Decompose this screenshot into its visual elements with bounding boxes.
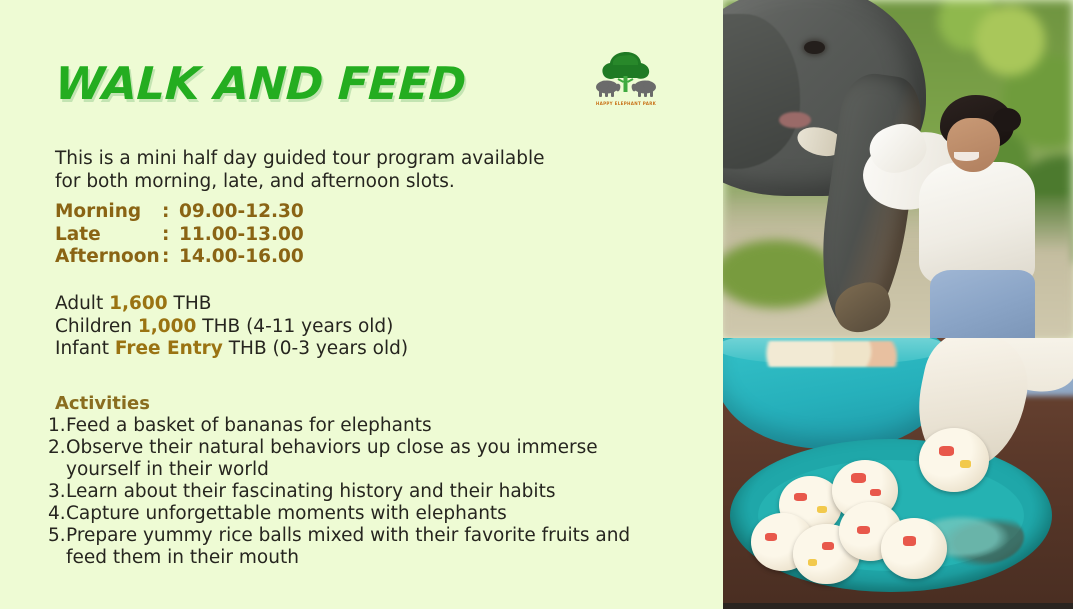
schedule-label-afternoon: Afternoon: [55, 246, 162, 269]
fruit-chunk: [939, 446, 954, 456]
schedule-colon-late: :: [162, 224, 179, 247]
schedule-time-late: 11.00-13.00: [179, 224, 304, 247]
list-item: 3. Learn about their fascinating history…: [48, 481, 668, 503]
fruit-chunk: [817, 506, 827, 513]
rice-ball-in-hand: [919, 428, 989, 492]
list-item-number: 2.: [48, 437, 66, 459]
schedule-label-morning: Morning: [55, 201, 162, 224]
logo-caption: HAPPY ELEPHANT PARK: [590, 101, 662, 106]
activities-heading: Activities: [55, 393, 150, 414]
price-note-children: (4-11 years old): [246, 316, 393, 337]
price-row-infant: Infant Free Entry THB (0-3 years old): [55, 338, 408, 361]
schedule-label-late: Late: [55, 224, 162, 247]
fruit-chunk: [822, 542, 834, 551]
schedule-time-morning: 09.00-12.30: [179, 201, 304, 224]
activities-list: 1. Feed a basket of bananas for elephant…: [48, 415, 668, 569]
photo-elephant-with-visitor: [723, 0, 1073, 338]
fruit-chunk: [794, 493, 807, 501]
schedule-row-morning: Morning : 09.00-12.30: [55, 201, 304, 224]
fruit-chunk: [765, 533, 778, 541]
list-item-number: 5.: [48, 525, 66, 547]
schedule-colon-morning: :: [162, 201, 179, 224]
list-item-number: 1.: [48, 415, 66, 437]
pricing-list: Adult 1,600 THB Children 1,000 THB (4-11…: [55, 293, 408, 361]
list-item: 4. Capture unforgettable moments with el…: [48, 503, 668, 525]
park-logo: HAPPY ELEPHANT PARK: [590, 48, 662, 110]
elephant-mouth: [779, 112, 811, 129]
price-value-children: 1,000: [138, 316, 197, 337]
list-item-text: Observe their natural behaviors up close…: [66, 437, 668, 481]
schedule-row-late: Late : 11.00-13.00: [55, 224, 304, 247]
tree-with-elephants-icon: [590, 48, 662, 100]
visitor-hair-bun: [993, 108, 1021, 132]
price-currency-infant: THB: [229, 338, 267, 359]
bottom-edge-strip: [723, 603, 1073, 609]
rice-ball: [881, 518, 948, 579]
price-row-children: Children 1,000 THB (4-11 years old): [55, 316, 408, 339]
price-label-infant: Infant: [55, 338, 109, 359]
visitor-torso: [919, 162, 1035, 284]
schedule-row-afternoon: Afternoon : 14.00-16.00: [55, 246, 304, 269]
price-label-adult: Adult: [55, 293, 103, 314]
fruit-chunk: [870, 489, 881, 496]
price-currency-adult: THB: [174, 293, 212, 314]
visitor-jeans: [930, 270, 1035, 338]
price-row-adult: Adult 1,600 THB: [55, 293, 408, 316]
list-item: 2. Observe their natural behaviors up cl…: [48, 437, 668, 481]
intro-line-1: This is a mini half day guided tour prog…: [55, 147, 544, 170]
fruit-chunk: [903, 536, 916, 545]
list-item-text: Prepare yummy rice balls mixed with thei…: [66, 525, 668, 569]
list-item-text: Learn about their fascinating history an…: [66, 481, 668, 503]
intro-paragraph: This is a mini half day guided tour prog…: [55, 147, 544, 193]
photo-rice-ball-preparation: [723, 338, 1073, 603]
list-item-number: 4.: [48, 503, 66, 525]
list-item-text: Capture unforgettable moments with eleph…: [66, 503, 668, 525]
walk-and-feed-poster: WALK AND FEED: [0, 0, 1073, 609]
page-title: WALK AND FEED: [54, 57, 467, 110]
fruit-chunk: [960, 460, 971, 468]
basin-food-mix: [758, 341, 898, 368]
schedule-time-afternoon: 14.00-16.00: [179, 246, 304, 269]
price-value-adult: 1,600: [109, 293, 168, 314]
intro-line-2: for both morning, late, and afternoon sl…: [55, 170, 544, 193]
fruit-chunk: [851, 473, 866, 483]
schedule-list: Morning : 09.00-12.30 Late : 11.00-13.00…: [55, 201, 304, 269]
list-item-number: 3.: [48, 481, 66, 503]
price-note-infant: (0-3 years old): [273, 338, 409, 359]
price-value-infant: Free Entry: [115, 338, 223, 359]
price-label-children: Children: [55, 316, 132, 337]
list-item-text: Feed a basket of bananas for elephants: [66, 415, 668, 437]
visitor-smile: [954, 152, 979, 160]
fruit-chunk: [808, 559, 817, 566]
schedule-colon-afternoon: :: [162, 246, 179, 269]
elephant-eye: [804, 41, 825, 55]
price-currency-children: THB: [202, 316, 240, 337]
photo-column: [723, 0, 1073, 609]
fruit-chunk: [857, 526, 870, 535]
list-item: 1. Feed a basket of bananas for elephant…: [48, 415, 668, 437]
content-column: WALK AND FEED: [0, 0, 723, 609]
list-item: 5. Prepare yummy rice balls mixed with t…: [48, 525, 668, 569]
